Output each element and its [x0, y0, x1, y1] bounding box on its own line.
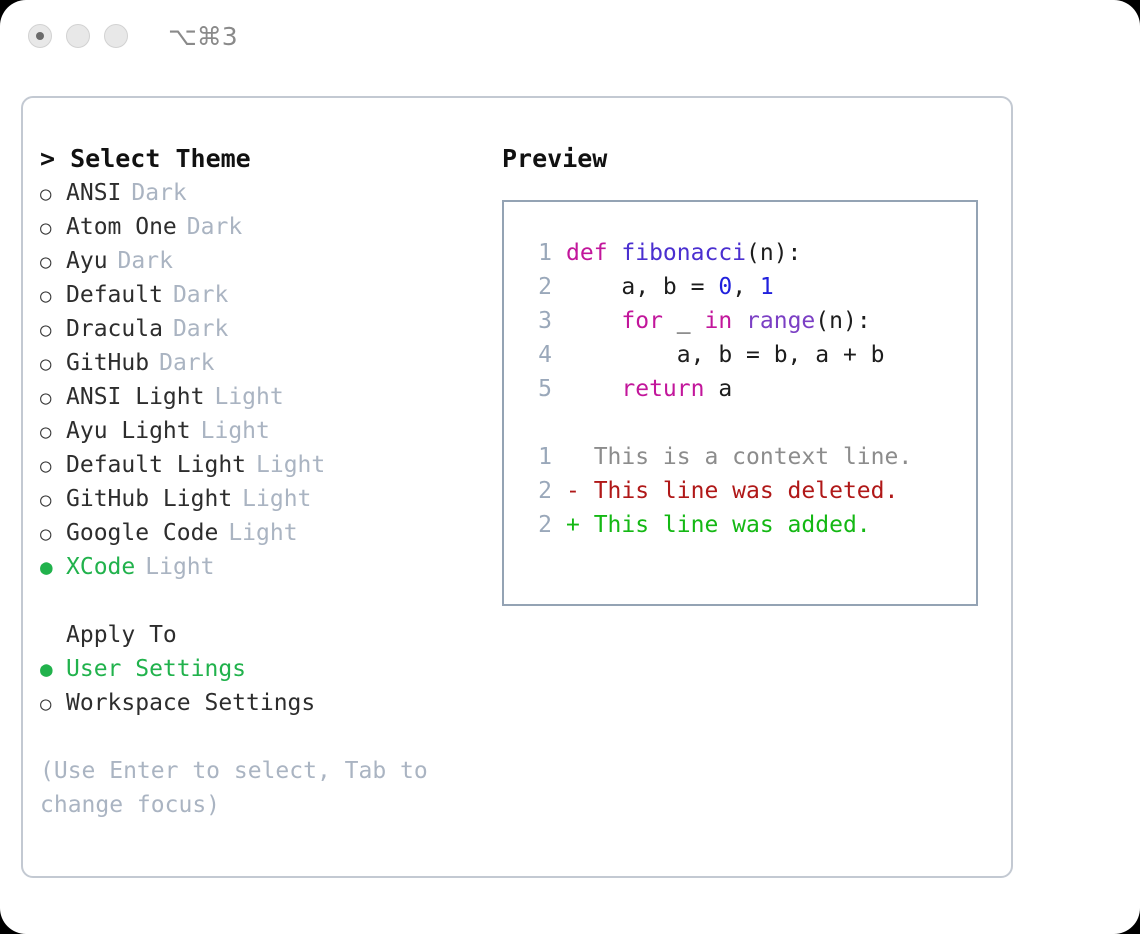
radio-selected-icon: ●: [40, 550, 66, 584]
theme-list-item[interactable]: ●XCodeLight: [40, 550, 480, 584]
diff-text: + This line was added.: [566, 508, 871, 542]
code-token: _: [663, 304, 705, 338]
theme-name-label: Atom One: [66, 210, 177, 244]
theme-kind-badge: Light: [228, 516, 297, 550]
code-token: 0: [718, 270, 732, 304]
diff-line: 1 This is a context line.: [522, 440, 958, 474]
code-token: a, b =: [566, 270, 718, 304]
theme-list-item[interactable]: ○Default LightLight: [40, 448, 480, 482]
radio-unselected-icon: ○: [40, 347, 66, 381]
page-title: > Select Theme: [40, 142, 480, 176]
code-token: return: [621, 372, 704, 406]
theme-name-label: XCode: [66, 550, 135, 584]
code-line: 4 a, b = b, a + b: [522, 338, 958, 372]
apply-to-label: User Settings: [66, 652, 246, 686]
theme-kind-badge: Dark: [118, 244, 173, 278]
window-dot-second-icon[interactable]: [66, 24, 90, 48]
window-dot-inner: [36, 32, 44, 40]
code-token: [732, 304, 746, 338]
theme-name-label: Ayu: [66, 244, 108, 278]
preview-title: Preview: [502, 142, 1002, 176]
theme-name-label: Google Code: [66, 516, 218, 550]
radio-unselected-icon: ○: [40, 177, 66, 211]
radio-unselected-icon: ○: [40, 415, 66, 449]
code-token: [566, 304, 621, 338]
apply-to-list: ●User Settings○Workspace Settings: [40, 652, 480, 720]
theme-name-label: ANSI Light: [66, 380, 204, 414]
spacer: [40, 584, 480, 618]
code-token: (n):: [815, 304, 870, 338]
line-number: 2: [522, 270, 552, 304]
theme-list-item[interactable]: ○GitHubDark: [40, 346, 480, 380]
code-token: a: [704, 372, 732, 406]
line-number: 1: [522, 236, 552, 270]
theme-list-item[interactable]: ○DefaultDark: [40, 278, 480, 312]
theme-list-item[interactable]: ○Atom OneDark: [40, 210, 480, 244]
theme-kind-badge: Light: [201, 414, 270, 448]
code-sample: 1def fibonacci(n):2 a, b = 0, 13 for _ i…: [522, 236, 958, 406]
code-token: def: [566, 236, 621, 270]
theme-kind-badge: Light: [145, 550, 214, 584]
apply-to-label: Workspace Settings: [66, 686, 315, 720]
code-line: 1def fibonacci(n):: [522, 236, 958, 270]
code-line: 3 for _ in range(n):: [522, 304, 958, 338]
window-dot-active-icon[interactable]: [28, 24, 52, 48]
theme-picker-panel: > Select Theme ○ANSIDark○Atom OneDark○Ay…: [40, 142, 480, 822]
theme-list-item[interactable]: ○AyuDark: [40, 244, 480, 278]
line-number: 4: [522, 338, 552, 372]
radio-unselected-icon: ○: [40, 517, 66, 551]
line-number: 5: [522, 372, 552, 406]
apply-to-title: Apply To: [40, 618, 480, 652]
content-window: > Select Theme ○ANSIDark○Atom OneDark○Ay…: [21, 96, 1013, 878]
theme-list-item[interactable]: ○Google CodeLight: [40, 516, 480, 550]
code-token: (n):: [746, 236, 801, 270]
line-number: 2: [522, 474, 552, 508]
window-dot-third-icon[interactable]: [104, 24, 128, 48]
radio-unselected-icon: ○: [40, 381, 66, 415]
line-number: 1: [522, 440, 552, 474]
diff-sample: 1 This is a context line.2- This line wa…: [522, 440, 958, 542]
radio-unselected-icon: ○: [40, 687, 66, 721]
radio-unselected-icon: ○: [40, 313, 66, 347]
apply-to-item[interactable]: ○Workspace Settings: [40, 686, 480, 720]
code-token: range: [746, 304, 815, 338]
theme-list-item[interactable]: ○Ayu LightLight: [40, 414, 480, 448]
preview-panel: Preview 1def fibonacci(n):2 a, b = 0, 13…: [502, 142, 1002, 606]
keyboard-hint: (Use Enter to select, Tab to change focu…: [40, 754, 440, 822]
theme-list-item[interactable]: ○DraculaDark: [40, 312, 480, 346]
code-token: 1: [760, 270, 774, 304]
code-token: a, b = b, a + b: [566, 338, 885, 372]
theme-kind-badge: Light: [242, 482, 311, 516]
preview-box: 1def fibonacci(n):2 a, b = 0, 13 for _ i…: [502, 200, 978, 606]
keyboard-shortcut-label: ⌥⌘3: [168, 22, 238, 51]
app-window: ⌥⌘3 > Select Theme ○ANSIDark○Atom OneDar…: [0, 0, 1140, 934]
theme-name-label: GitHub: [66, 346, 149, 380]
diff-line: 2+ This line was added.: [522, 508, 958, 542]
theme-kind-badge: Light: [256, 448, 325, 482]
code-token: ,: [732, 270, 760, 304]
theme-kind-badge: Dark: [187, 210, 242, 244]
code-line: 5 return a: [522, 372, 958, 406]
theme-kind-badge: Dark: [173, 312, 228, 346]
theme-kind-badge: Dark: [159, 346, 214, 380]
code-token: for: [621, 304, 663, 338]
theme-kind-badge: Light: [214, 380, 283, 414]
window-controls: [28, 24, 128, 48]
radio-unselected-icon: ○: [40, 245, 66, 279]
theme-name-label: Dracula: [66, 312, 163, 346]
line-number: 2: [522, 508, 552, 542]
diff-line: 2- This line was deleted.: [522, 474, 958, 508]
code-token: in: [704, 304, 732, 338]
code-token: fibonacci: [621, 236, 746, 270]
radio-selected-icon: ●: [40, 652, 66, 686]
theme-name-label: Default: [66, 278, 163, 312]
theme-list-item[interactable]: ○ANSIDark: [40, 176, 480, 210]
theme-name-label: Default Light: [66, 448, 246, 482]
theme-name-label: ANSI: [66, 176, 121, 210]
theme-kind-badge: Dark: [131, 176, 186, 210]
theme-list-item[interactable]: ○ANSI LightLight: [40, 380, 480, 414]
radio-unselected-icon: ○: [40, 279, 66, 313]
theme-list-item[interactable]: ○GitHub LightLight: [40, 482, 480, 516]
line-number: 3: [522, 304, 552, 338]
radio-unselected-icon: ○: [40, 483, 66, 517]
code-spacer: [522, 406, 958, 440]
apply-to-item[interactable]: ●User Settings: [40, 652, 480, 686]
title-bar: ⌥⌘3: [0, 0, 1140, 80]
theme-list: ○ANSIDark○Atom OneDark○AyuDark○DefaultDa…: [40, 176, 480, 584]
theme-name-label: Ayu Light: [66, 414, 191, 448]
code-line: 2 a, b = 0, 1: [522, 270, 958, 304]
radio-unselected-icon: ○: [40, 449, 66, 483]
radio-unselected-icon: ○: [40, 211, 66, 245]
theme-kind-badge: Dark: [173, 278, 228, 312]
diff-text: This is a context line.: [566, 440, 912, 474]
diff-text: - This line was deleted.: [566, 474, 898, 508]
code-token: [566, 372, 621, 406]
theme-name-label: GitHub Light: [66, 482, 232, 516]
